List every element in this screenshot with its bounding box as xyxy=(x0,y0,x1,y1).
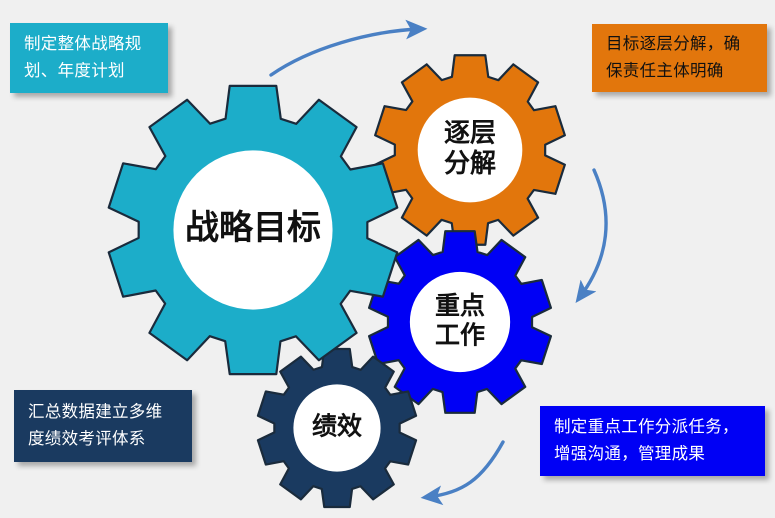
right-arrow-icon xyxy=(580,170,606,297)
diagram-canvas: 逐层分解重点工作绩效战略目标 制定整体战略规 划、年度计划 目标逐层分解，确 保… xyxy=(0,0,775,518)
callout-performance: 汇总数据建立多维 度绩效考评体系 xyxy=(14,390,192,462)
callout-decompose: 目标逐层分解，确 保责任主体明确 xyxy=(592,24,767,92)
top-arrow-icon xyxy=(271,29,420,75)
callout-strategy: 制定整体战略规 划、年度计划 xyxy=(10,23,168,93)
callout-keywork: 制定重点工作分派任务， 增强沟通，管理成果 xyxy=(540,406,765,476)
bottom-arrow-icon xyxy=(428,442,503,497)
